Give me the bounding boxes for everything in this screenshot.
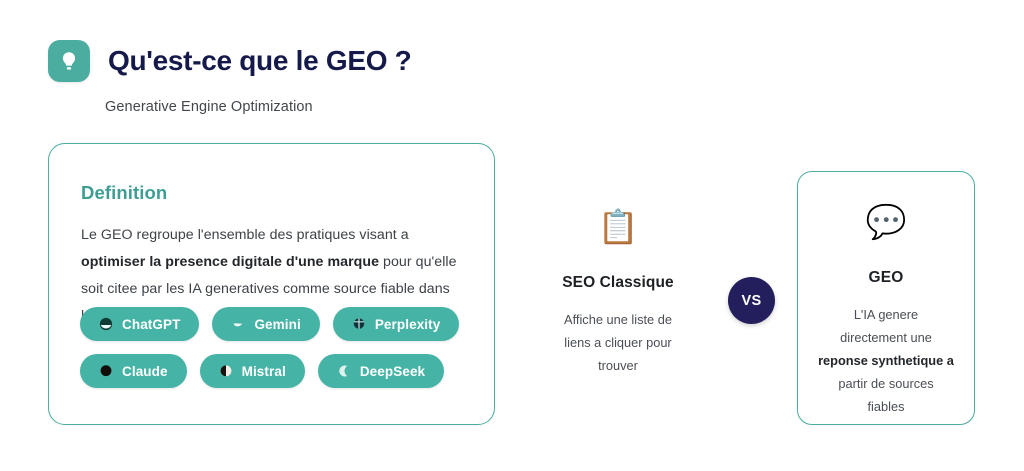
brand-pill-label: Claude: [122, 364, 168, 379]
brand-pill-claude[interactable]: Claude: [80, 354, 187, 388]
seo-desc-line: Affiche une liste de: [528, 308, 708, 331]
brand-pill-label: ChatGPT: [122, 317, 180, 332]
seo-title: SEO Classique: [528, 274, 708, 292]
seo-desc-line: liens a cliquer pour: [528, 331, 708, 354]
geo-desc-line: L'IA genere: [812, 303, 960, 326]
vs-badge: VS: [728, 277, 775, 324]
claude-icon: [99, 364, 113, 378]
brand-pill-label: Mistral: [242, 364, 286, 379]
brand-pill-perplexity[interactable]: Perplexity: [333, 307, 460, 341]
geo-title: GEO: [798, 269, 974, 287]
chatgpt-icon: [99, 317, 113, 331]
definition-text-3: la presence digitale d'une marque: [149, 254, 379, 270]
brand-pill-chatgpt[interactable]: ChatGPT: [80, 307, 199, 341]
geo-desc-line: fiables: [812, 395, 960, 418]
definition-card: Definition Le GEO regroupe l'ensemble de…: [48, 143, 495, 425]
perplexity-icon: [352, 317, 366, 331]
deepseek-icon: [337, 364, 351, 378]
brand-pill-gemini[interactable]: Gemini: [212, 307, 319, 341]
geo-comparison-card: 💬 GEO L'IA genere directement une repons…: [797, 171, 975, 425]
brand-pill-mistral[interactable]: Mistral: [200, 354, 305, 388]
definition-text-2: optimiser: [81, 254, 145, 270]
geo-desc-line: directement une: [812, 326, 960, 349]
brand-pill-group: ChatGPT Gemini Perplexity Claude: [80, 307, 470, 388]
brand-pill-label: Gemini: [254, 317, 300, 332]
brand-pill-label: DeepSeek: [360, 364, 425, 379]
page-title: Qu'est-ce que le GEO ?: [108, 47, 411, 75]
brand-pill-deepseek[interactable]: DeepSeek: [318, 354, 444, 388]
definition-text-1: Le GEO regroupe l'ensemble des pratiques…: [81, 227, 409, 243]
definition-heading: Definition: [81, 182, 167, 204]
mistral-icon: [219, 364, 233, 378]
page-subtitle: Generative Engine Optimization: [105, 99, 508, 115]
seo-description: Affiche une liste de liens a cliquer pou…: [528, 308, 708, 377]
speech-bubble-icon: 💬: [798, 205, 974, 247]
geo-desc-line: partir de sources: [812, 372, 960, 395]
seo-comparison-column: 📋 SEO Classique Affiche une liste de lie…: [528, 210, 708, 377]
lightbulb-icon: [48, 40, 90, 82]
brand-pill-label: Perplexity: [375, 317, 441, 332]
gemini-icon: [231, 317, 245, 331]
geo-desc-line-strong: reponse synthetique a: [812, 349, 960, 372]
geo-description: L'IA genere directement une reponse synt…: [798, 303, 974, 418]
seo-desc-line: trouver: [528, 354, 708, 377]
page-header: Qu'est-ce que le GEO ? Generative Engine…: [48, 40, 508, 126]
header-row: Qu'est-ce que le GEO ?: [48, 40, 508, 82]
clipboard-icon: 📋: [528, 210, 708, 252]
